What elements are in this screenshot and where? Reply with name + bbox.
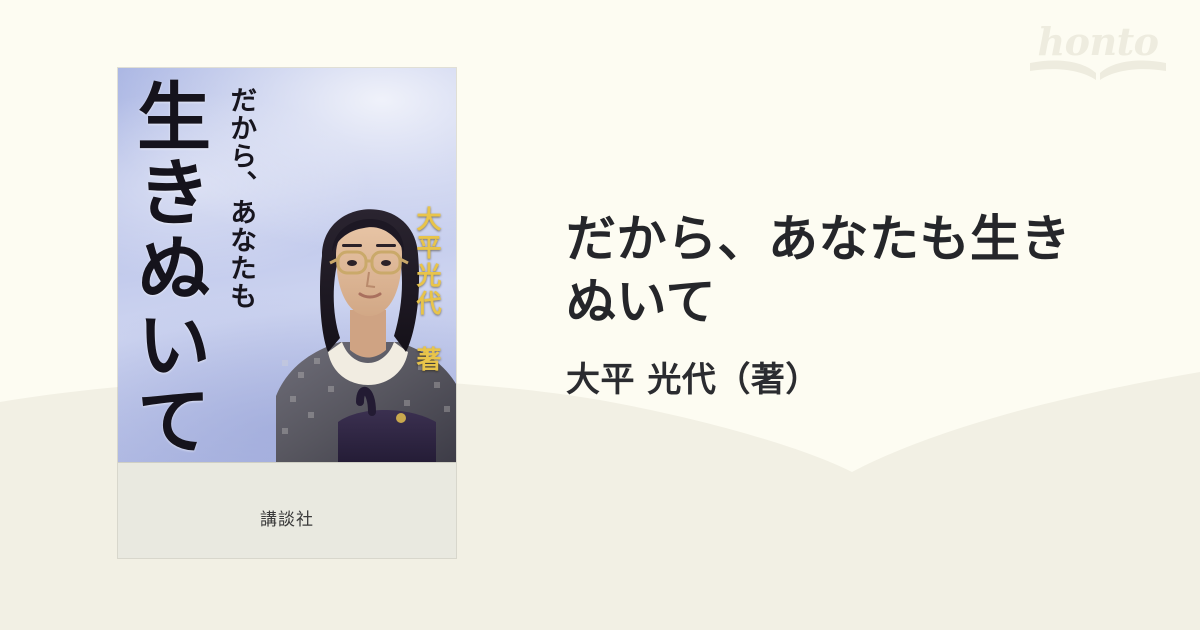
cover-title-small: だから、あなたも (226, 86, 254, 310)
cover-publisher-name: 講談社 (118, 505, 456, 530)
open-book-icon (1028, 59, 1168, 81)
book-info-block: だから、あなたも生きぬいて 大平 光代（著） (566, 208, 1146, 401)
honto-wordmark: honto (1018, 20, 1178, 64)
honto-logo[interactable]: honto (1018, 20, 1178, 82)
page-title: だから、あなたも生きぬいて (566, 208, 1114, 334)
cover-author-text: 大平光代 著 (413, 206, 443, 374)
cover-title-large: 生きぬいて (132, 78, 202, 458)
book-author: 大平 光代（著） (566, 360, 1146, 401)
page-root: honto (0, 0, 1200, 630)
book-cover-image[interactable]: 生きぬいて だから、あなたも 大平光代 著 講談社 (118, 68, 456, 558)
